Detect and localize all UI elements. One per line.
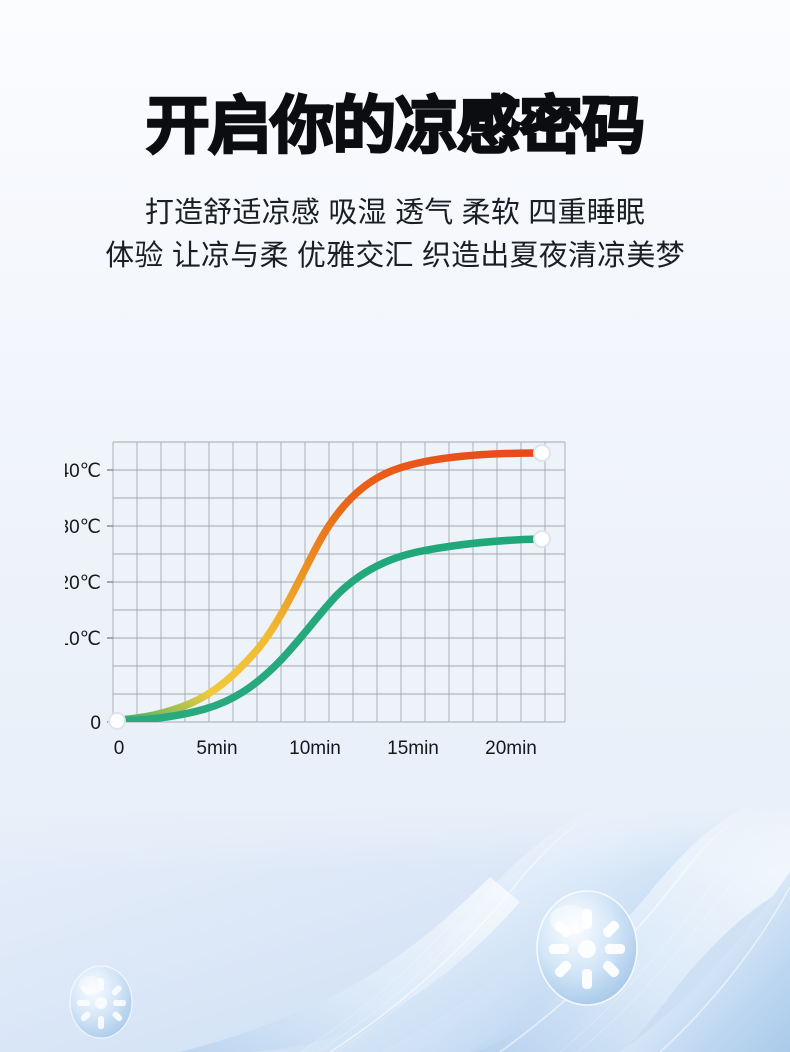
fabric-photo xyxy=(0,802,790,1052)
x-axis-labels: 0 5min 10min 15min 20min xyxy=(114,738,537,759)
snowflake-bead-small xyxy=(70,966,132,1038)
subtitle-line-1: 打造舒适凉感 吸湿 透气 柔软 四重睡眠 xyxy=(0,192,790,235)
x-tick-0: 0 xyxy=(114,738,125,759)
y-axis-ticks xyxy=(107,470,113,722)
marker-end-cool-mat xyxy=(534,531,550,547)
temperature-chart: 40℃ 30℃ 20℃ 10℃ 0 0 5min 10min 15min 20m… xyxy=(0,432,790,852)
fabric-illustration xyxy=(0,802,790,1052)
page-title: 开启你的凉感密码 xyxy=(0,96,790,158)
fabric-top-fade xyxy=(0,802,790,872)
y-tick-40: 40℃ xyxy=(65,461,101,482)
y-tick-20: 20℃ xyxy=(65,573,101,594)
snowflake-icon xyxy=(549,909,625,989)
x-tick-20min: 20min xyxy=(485,738,537,759)
x-tick-10min: 10min xyxy=(289,738,341,759)
y-tick-10: 10℃ xyxy=(65,629,101,650)
x-tick-15min: 15min xyxy=(387,738,439,759)
y-axis-labels: 40℃ 30℃ 20℃ 10℃ 0 xyxy=(65,461,101,734)
marker-origin xyxy=(109,713,125,729)
subtitle-block: 打造舒适凉感 吸湿 透气 柔软 四重睡眠 体验 让凉与柔 优雅交汇 织造出夏夜清… xyxy=(0,192,790,278)
y-tick-30: 30℃ xyxy=(65,517,101,538)
x-tick-5min: 5min xyxy=(196,738,237,759)
marker-end-ordinary-mat xyxy=(534,445,550,461)
y-tick-0: 0 xyxy=(90,713,101,734)
hero-section: 开启你的凉感密码 打造舒适凉感 吸湿 透气 柔软 四重睡眠 体验 让凉与柔 优雅… xyxy=(0,96,790,278)
chart-canvas: 40℃ 30℃ 20℃ 10℃ 0 0 5min 10min 15min 20m… xyxy=(65,432,725,792)
subtitle-line-2: 体验 让凉与柔 优雅交汇 织造出夏夜清凉美梦 xyxy=(0,235,790,278)
snowflake-bead-large xyxy=(537,891,637,1005)
